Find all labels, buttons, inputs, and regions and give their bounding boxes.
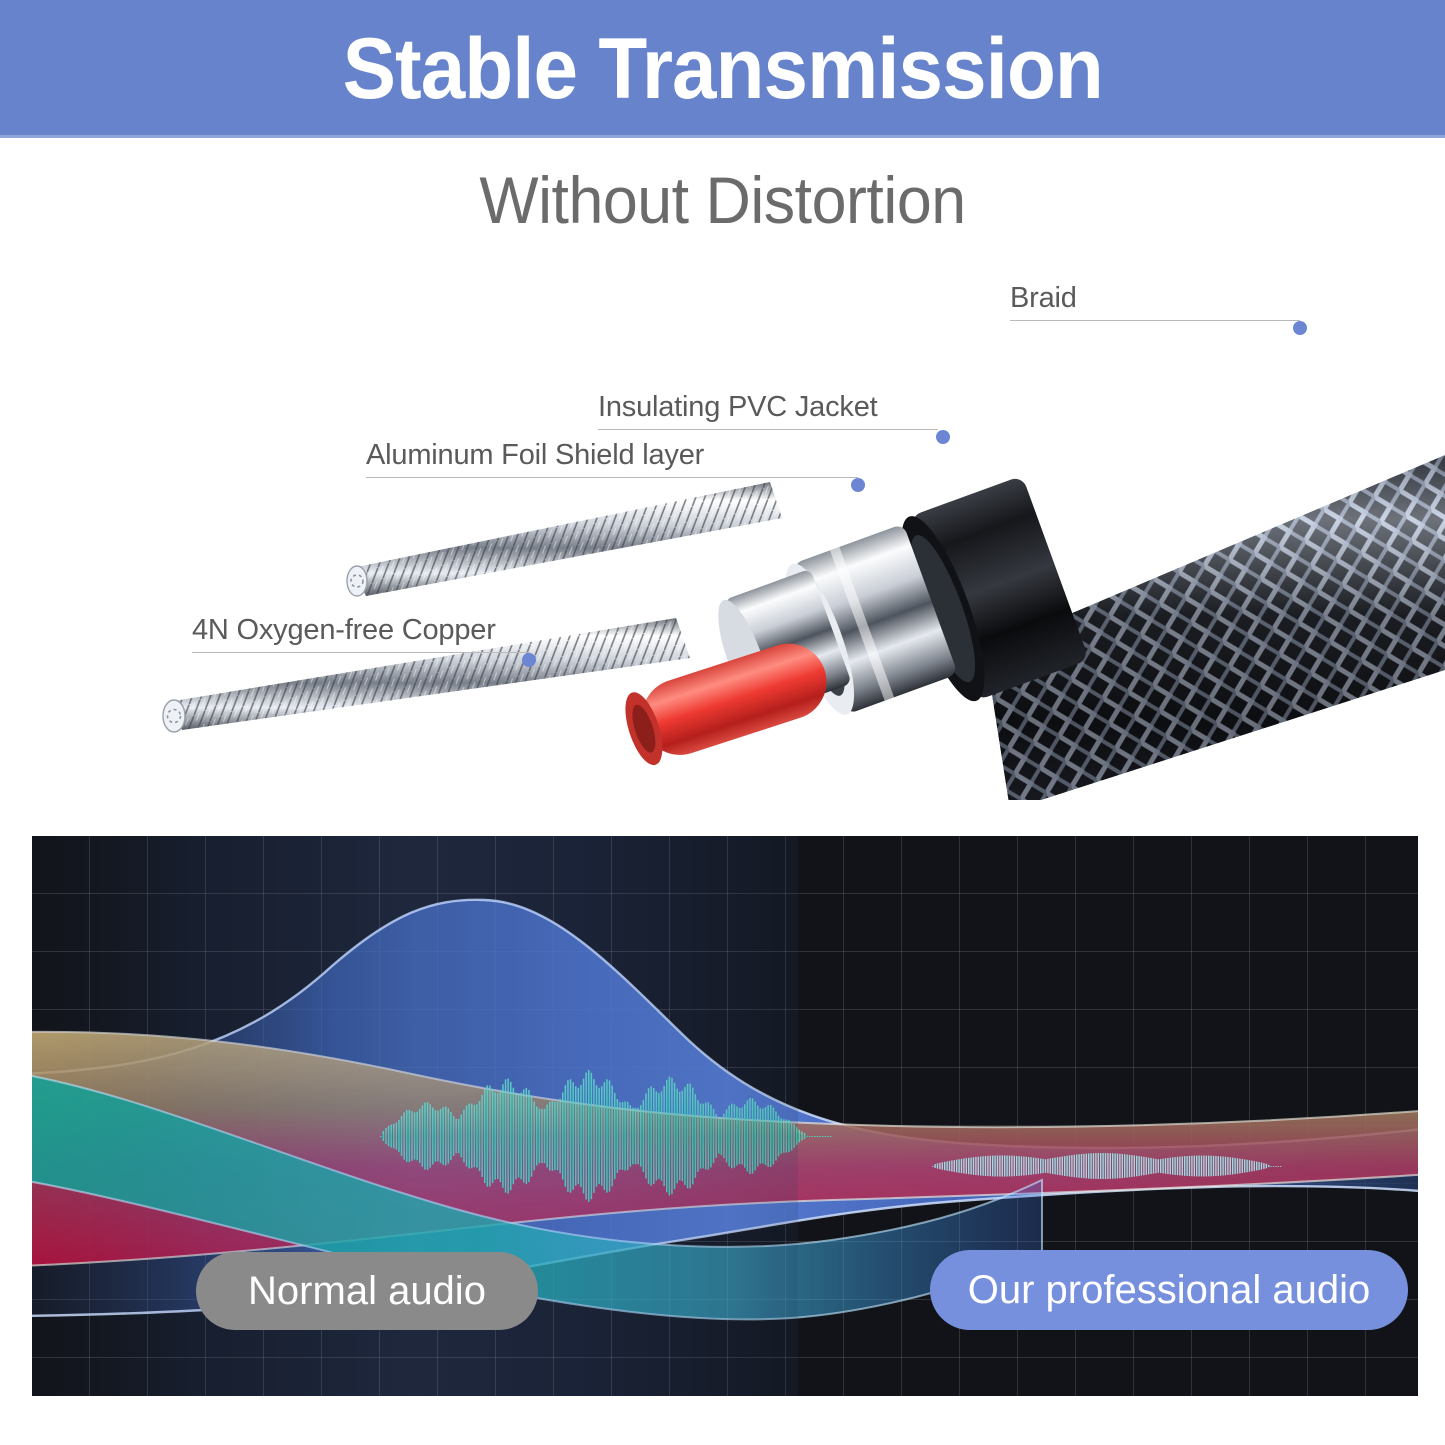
callout-label: Insulating PVC Jacket	[598, 392, 946, 424]
badge-pro-label: Our professional audio	[968, 1268, 1370, 1313]
leader-line	[598, 429, 938, 430]
page-title: Stable Transmission	[342, 26, 1102, 112]
callout-label: Aluminum Foil Shield layer	[366, 440, 866, 472]
marker-dot	[851, 478, 865, 492]
badge-pro-audio: Our professional audio	[930, 1250, 1408, 1330]
callout-4n-oxygen-free-copper: 4N Oxygen-free Copper	[192, 615, 540, 653]
infographic-page: Stable Transmission Without Distortion	[0, 0, 1445, 1445]
marker-dot	[1293, 321, 1307, 335]
cable-illustration	[0, 250, 1445, 800]
leader-line	[366, 477, 858, 478]
header-banner: Stable Transmission	[0, 0, 1445, 137]
callout-braid: Braid	[1010, 283, 1310, 321]
leader-line	[192, 652, 530, 653]
badge-normal-label: Normal audio	[248, 1269, 486, 1314]
callout-aluminum-foil-shield-layer: Aluminum Foil Shield layer	[366, 440, 866, 478]
badge-normal-audio: Normal audio	[196, 1252, 538, 1330]
callout-insulating-pvc-jacket: Insulating PVC Jacket	[598, 392, 946, 430]
page-subtitle: Without Distortion	[36, 162, 1409, 238]
marker-dot	[522, 653, 536, 667]
callout-label: Braid	[1010, 283, 1310, 315]
cable-diagram: Braid Insulating PVC Jacket Aluminum Foi…	[0, 250, 1445, 800]
leader-line	[1010, 320, 1300, 321]
marker-dot	[936, 430, 950, 444]
callout-label: 4N Oxygen-free Copper	[192, 615, 540, 647]
header-divider	[0, 135, 1445, 138]
